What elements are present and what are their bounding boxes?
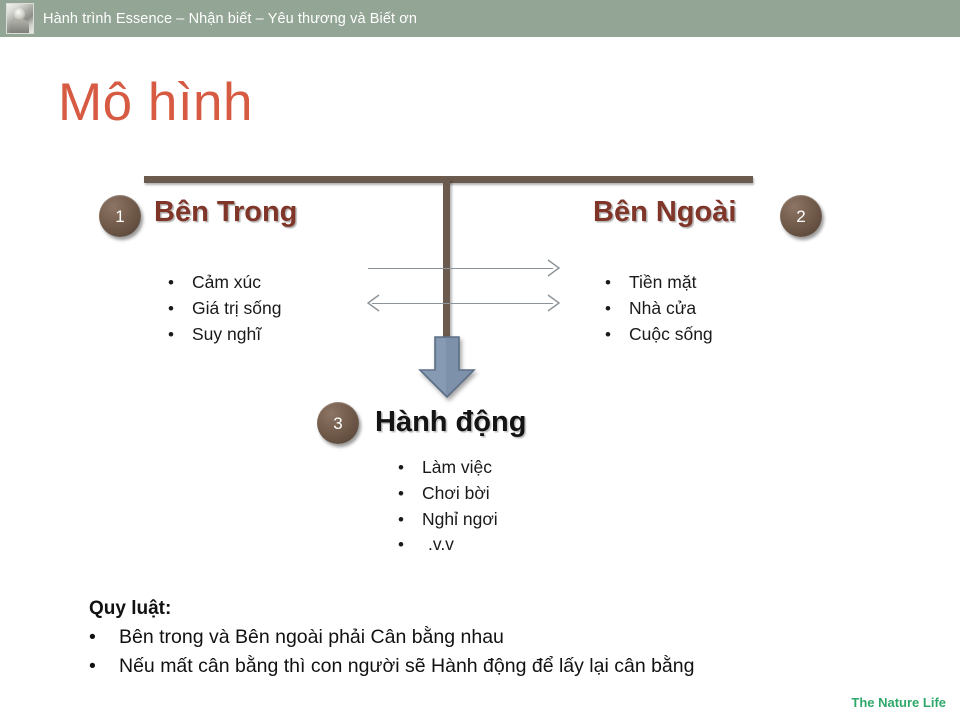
list-item: • Giá trị sống <box>168 296 281 322</box>
list-item: • Nghỉ ngơi <box>398 507 498 533</box>
bullet-glyph: • <box>398 507 422 533</box>
bullet-glyph: • <box>605 270 629 296</box>
list-item-label: Cuộc sống <box>629 322 713 348</box>
header-title: Hành trình Essence – Nhận biết – Yêu thư… <box>43 11 417 27</box>
person-photo-thumbnail-icon <box>6 3 34 34</box>
bullet-glyph: • <box>168 296 192 322</box>
list-item: • .v.v <box>398 532 498 558</box>
badge-number: 2 <box>796 208 805 225</box>
connector-arrowhead-bottom-right <box>546 293 562 313</box>
bullet-glyph: • <box>605 322 629 348</box>
list-item: • Nhà cửa <box>605 296 713 322</box>
bullet-glyph: • <box>89 623 119 652</box>
bullet-glyph: • <box>398 532 422 558</box>
list-item: • Cuộc sống <box>605 322 713 348</box>
list-item-label: Tiền mặt <box>629 270 696 296</box>
list-group-2: • Tiền mặt • Nhà cửa • Cuộc sống <box>605 270 713 347</box>
list-item-label: Giá trị sống <box>192 296 281 322</box>
bullet-glyph: • <box>398 455 422 481</box>
badge-number: 1 <box>115 208 124 225</box>
list-group-1: • Cảm xúc • Giá trị sống • Suy nghĩ <box>168 270 281 347</box>
slide-header-bar: Hành trình Essence – Nhận biết – Yêu thư… <box>0 0 960 37</box>
list-item-label: Suy nghĩ <box>192 322 261 348</box>
bullet-glyph: • <box>89 652 119 681</box>
badge-group-2: 2 <box>780 195 822 237</box>
list-group-3: • Làm việc • Chơi bời • Nghỉ ngơi • .v.v <box>398 455 498 558</box>
list-item-label: Làm việc <box>422 455 492 481</box>
list-item: • Làm việc <box>398 455 498 481</box>
connector-arrowhead-top-right <box>546 258 562 278</box>
bullet-glyph: • <box>168 270 192 296</box>
list-item: • Tiền mặt <box>605 270 713 296</box>
list-item: • Cảm xúc <box>168 270 281 296</box>
list-item-label: Cảm xúc <box>192 270 261 296</box>
heading-group-3: Hành động <box>375 406 526 439</box>
rules-title: Quy luật: <box>89 594 694 623</box>
down-arrow-icon <box>418 336 476 399</box>
list-item-label: Nghỉ ngơi <box>422 507 498 533</box>
list-item: • Chơi bời <box>398 481 498 507</box>
badge-group-1: 1 <box>99 195 141 237</box>
heading-group-1: Bên Trong <box>154 196 297 229</box>
rules-item-label: Bên trong và Bên ngoài phải Cân bằng nha… <box>119 623 504 652</box>
page-title: Mô hình <box>58 72 253 133</box>
rules-item-label: Nếu mất cân bằng thì con người sẽ Hành đ… <box>119 652 694 681</box>
rules-block: Quy luật: • Bên trong và Bên ngoài phải … <box>89 594 694 681</box>
list-item-label: .v.v <box>422 532 454 558</box>
badge-number: 3 <box>333 415 342 432</box>
bullet-glyph: • <box>605 296 629 322</box>
list-item-label: Chơi bời <box>422 481 490 507</box>
footer-brand: The Nature Life <box>851 695 946 710</box>
diagram-vertical-stem <box>443 180 450 338</box>
list-item: • Suy nghĩ <box>168 322 281 348</box>
list-item-label: Nhà cửa <box>629 296 696 322</box>
heading-group-2: Bên Ngoài <box>593 196 736 229</box>
rules-item: • Bên trong và Bên ngoài phải Cân bằng n… <box>89 623 694 652</box>
badge-group-3: 3 <box>317 402 359 444</box>
connector-line-bottom <box>372 303 553 304</box>
bullet-glyph: • <box>398 481 422 507</box>
bullet-glyph: • <box>168 322 192 348</box>
connector-arrowhead-bottom-left <box>366 293 382 313</box>
rules-item: • Nếu mất cân bằng thì con người sẽ Hành… <box>89 652 694 681</box>
connector-line-top <box>368 268 553 269</box>
